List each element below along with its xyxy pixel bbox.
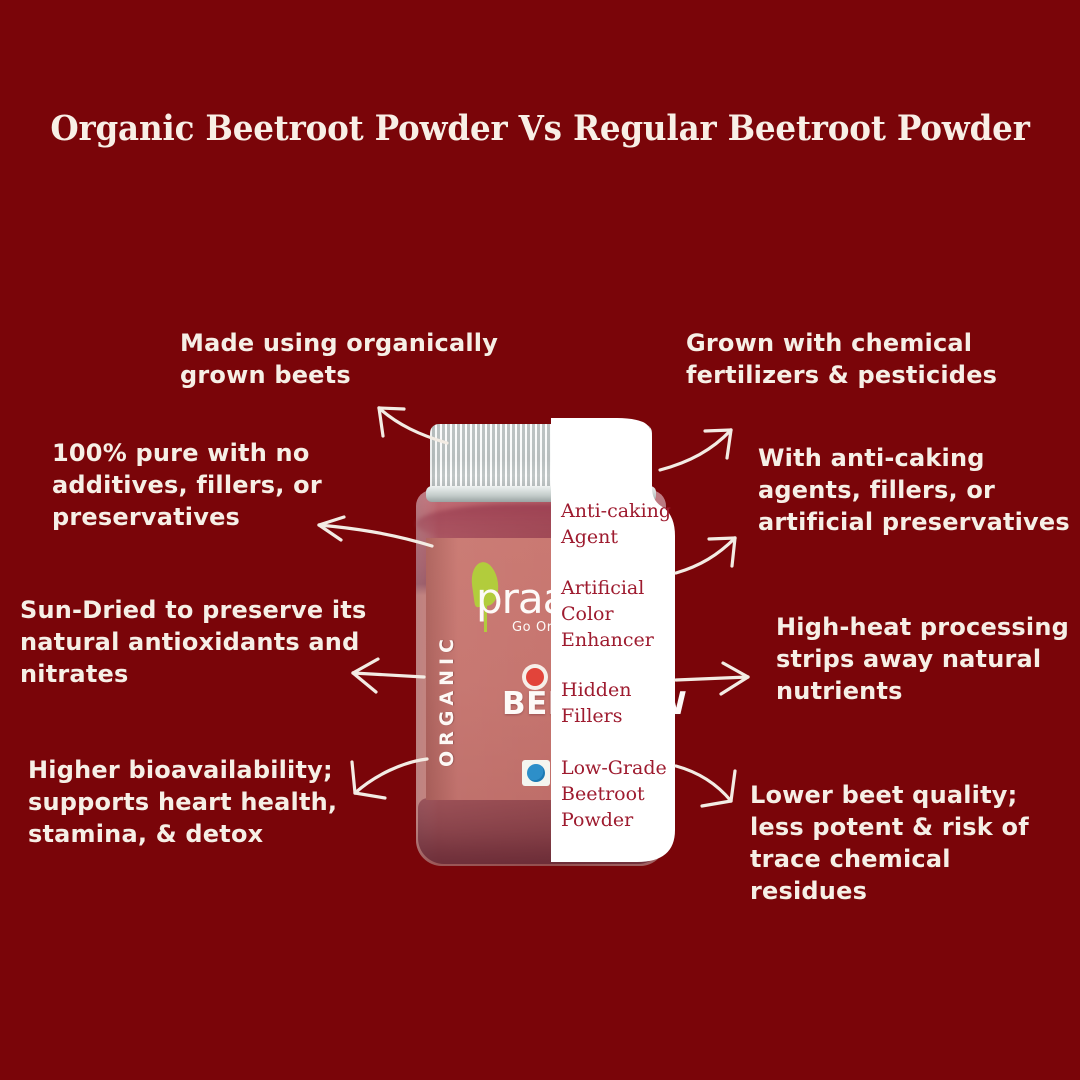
panel-item-low-grade: Low-Grade Beetroot Powder	[561, 755, 675, 834]
callout-lower-beet-quality: Lower beet quality; less potent & risk o…	[750, 780, 1050, 908]
regular-powder-overlay-panel: Anti-caking Agent Artificial Color Enhan…	[551, 410, 675, 862]
arrow-lower-quality	[676, 766, 735, 806]
label-organic-word: ORGANIC	[436, 634, 458, 767]
vegetarian-mark-badge-icon	[522, 760, 550, 786]
panel-item-anti-caking: Anti-caking Agent	[561, 498, 675, 550]
callout-anti-caking-agents: With anti-caking agents, fillers, or art…	[758, 443, 1074, 539]
callout-chemical-fertilizers: Grown with chemical fertilizers & pestic…	[686, 328, 1016, 392]
arrow-anti-caking	[676, 538, 735, 573]
callout-organic-beets: Made using organically grown beets	[180, 328, 510, 392]
callout-sun-dried: Sun-Dried to preserve its natural antiox…	[20, 595, 380, 691]
infographic-canvas: Organic Beetroot Powder Vs Regular Beetr…	[0, 0, 1080, 1080]
callout-pure-no-additives: 100% pure with no additives, fillers, or…	[52, 438, 352, 534]
panel-item-hidden-fillers: Hidden Fillers	[561, 677, 675, 729]
page-title: Organic Beetroot Powder Vs Regular Beetr…	[38, 108, 1042, 149]
callout-high-heat-processing: High-heat processing strips away natural…	[776, 612, 1076, 708]
panel-item-artificial-color: Artificial Color Enhancer	[561, 575, 675, 654]
callout-bioavailability: Higher bioavailability; supports heart h…	[28, 755, 348, 851]
